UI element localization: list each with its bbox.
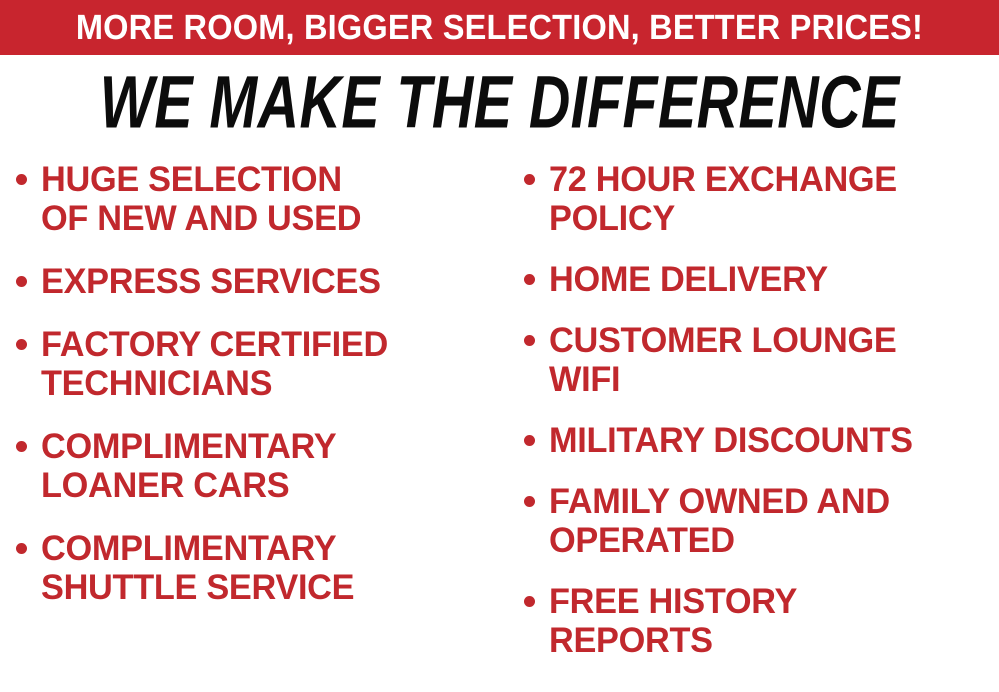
- list-item: CUSTOMER LOUNGE WIFI: [524, 321, 999, 399]
- list-item-label: HOME DELIVERY: [549, 260, 828, 299]
- bullet-dot-icon: [16, 174, 27, 185]
- bullet-dot-icon: [16, 276, 27, 287]
- bullet-dot-icon: [524, 435, 535, 446]
- page-title: WE MAKE THE DIFFERENCE: [100, 65, 900, 139]
- list-item-label: COMPLIMENTARY LOANER CARS: [41, 427, 336, 505]
- list-item: HOME DELIVERY: [524, 260, 999, 299]
- bullet-dot-icon: [16, 441, 27, 452]
- list-item: COMPLIMENTARY LOANER CARS: [16, 427, 505, 505]
- headline-container: WE MAKE THE DIFFERENCE: [0, 58, 999, 146]
- list-item-label: FREE HISTORY REPORTS: [549, 582, 797, 660]
- list-item: COMPLIMENTARY SHUTTLE SERVICE: [16, 529, 505, 607]
- list-item: FACTORY CERTIFIED TECHNICIANS: [16, 325, 505, 403]
- list-item: 72 HOUR EXCHANGE POLICY: [524, 160, 999, 238]
- list-item: FREE HISTORY REPORTS: [524, 582, 999, 660]
- list-item-label: EXPRESS SERVICES: [41, 262, 381, 301]
- bullet-dot-icon: [524, 496, 535, 507]
- bullet-dot-icon: [524, 274, 535, 285]
- features-column-right: 72 HOUR EXCHANGE POLICY HOME DELIVERY CU…: [505, 160, 999, 682]
- list-item-label: 72 HOUR EXCHANGE POLICY: [549, 160, 897, 238]
- list-item: FAMILY OWNED AND OPERATED: [524, 482, 999, 560]
- list-item-label: COMPLIMENTARY SHUTTLE SERVICE: [41, 529, 354, 607]
- list-item-label: MILITARY DISCOUNTS: [549, 421, 913, 460]
- bullet-dot-icon: [16, 543, 27, 554]
- promo-banner: MORE ROOM, BIGGER SELECTION, BETTER PRIC…: [0, 0, 999, 55]
- features-columns: HUGE SELECTION OF NEW AND USED EXPRESS S…: [0, 160, 999, 692]
- promo-banner-text: MORE ROOM, BIGGER SELECTION, BETTER PRIC…: [76, 10, 923, 45]
- list-item-label: CUSTOMER LOUNGE WIFI: [549, 321, 897, 399]
- bullet-dot-icon: [16, 339, 27, 350]
- list-item: HUGE SELECTION OF NEW AND USED: [16, 160, 505, 238]
- bullet-dot-icon: [524, 174, 535, 185]
- list-item: EXPRESS SERVICES: [16, 262, 505, 301]
- list-item-label: FACTORY CERTIFIED TECHNICIANS: [41, 325, 388, 403]
- bullet-dot-icon: [524, 335, 535, 346]
- bullet-dot-icon: [524, 596, 535, 607]
- list-item-label: FAMILY OWNED AND OPERATED: [549, 482, 890, 560]
- list-item: MILITARY DISCOUNTS: [524, 421, 999, 460]
- features-column-left: HUGE SELECTION OF NEW AND USED EXPRESS S…: [0, 160, 505, 631]
- list-item-label: HUGE SELECTION OF NEW AND USED: [41, 160, 361, 238]
